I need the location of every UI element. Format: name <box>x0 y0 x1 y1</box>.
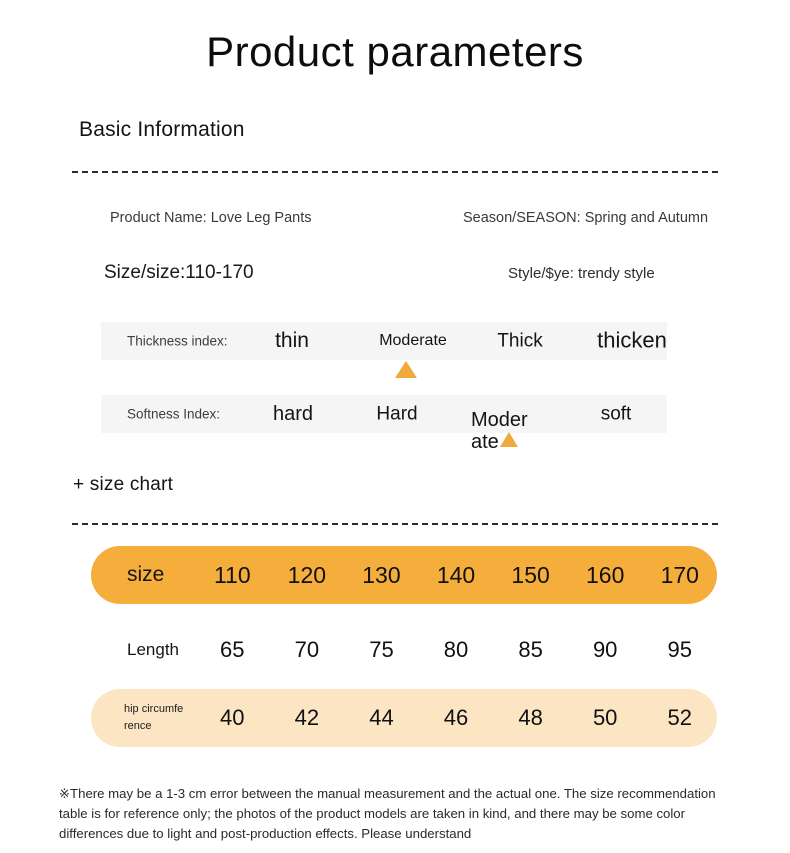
page-title: Product parameters <box>0 28 790 76</box>
table-cell: 120 <box>270 564 345 587</box>
row-label-length: Length <box>127 640 179 660</box>
softness-index-band: Softness Index: hard Hard Moderate soft <box>101 395 667 433</box>
thickness-option-thicken[interactable]: thicken <box>579 329 685 354</box>
table-cell: 40 <box>195 707 270 729</box>
row-label-hip-circumference: hip circumference <box>124 701 186 735</box>
table-cell: 95 <box>642 639 717 661</box>
table-cell: 50 <box>568 707 643 729</box>
thickness-option-thin[interactable]: thin <box>251 329 333 353</box>
table-cell: 44 <box>344 707 419 729</box>
size-cells: 110 120 130 140 150 160 170 <box>195 546 717 604</box>
hip-circumference-cells: 40 42 44 46 48 50 52 <box>195 689 717 747</box>
row-label-size: size <box>127 563 164 587</box>
table-cell: 46 <box>419 707 494 729</box>
table-row-size: size 110 120 130 140 150 160 170 <box>91 546 717 604</box>
softness-selected-pointer-icon <box>500 432 518 447</box>
softness-option-hard-upper[interactable]: Hard <box>351 403 443 424</box>
section-heading-basic-information: Basic Information <box>79 118 245 142</box>
measurement-disclaimer: ※There may be a 1-3 cm error between the… <box>59 784 747 844</box>
table-cell: 42 <box>270 707 345 729</box>
table-cell: 48 <box>493 707 568 729</box>
table-cell: 70 <box>270 639 345 661</box>
length-cells: 65 70 75 80 85 90 95 <box>195 621 717 679</box>
table-cell: 130 <box>344 564 419 587</box>
table-cell: 52 <box>642 707 717 729</box>
table-row-length: Length 65 70 75 80 85 90 95 <box>91 621 717 679</box>
thickness-index-band: Thickness index: thin Moderate Thick thi… <box>101 322 667 360</box>
thickness-index-label: Thickness index: <box>127 334 228 349</box>
table-cell: 160 <box>568 564 643 587</box>
table-cell: 75 <box>344 639 419 661</box>
softness-option-soft[interactable]: soft <box>573 403 659 424</box>
table-cell: 110 <box>195 564 270 587</box>
product-parameters-page: Product parameters Basic Information Pro… <box>0 0 790 853</box>
table-cell: 90 <box>568 639 643 661</box>
divider-top <box>72 171 718 173</box>
divider-size-chart <box>72 523 718 525</box>
table-cell: 65 <box>195 639 270 661</box>
product-name-value: Product Name: Love Leg Pants <box>110 210 312 226</box>
size-chart-heading[interactable]: + size chart <box>73 474 173 496</box>
season-value: Season/SEASON: Spring and Autumn <box>463 210 708 226</box>
table-cell: 140 <box>419 564 494 587</box>
softness-index-label: Softness Index: <box>127 407 220 422</box>
thickness-option-thick[interactable]: Thick <box>477 330 563 351</box>
thickness-selected-pointer-icon <box>395 361 417 378</box>
style-value: Style/$ye: trendy style <box>508 265 655 282</box>
table-cell: 150 <box>493 564 568 587</box>
table-cell: 170 <box>642 564 717 587</box>
table-row-hip-circumference: hip circumference 40 42 44 46 48 50 52 <box>91 689 717 747</box>
table-cell: 85 <box>493 639 568 661</box>
table-cell: 80 <box>419 639 494 661</box>
size-range-value: Size/size:110-170 <box>104 262 254 284</box>
softness-option-hard-lower[interactable]: hard <box>253 403 333 425</box>
thickness-option-moderate[interactable]: Moderate <box>363 332 463 350</box>
